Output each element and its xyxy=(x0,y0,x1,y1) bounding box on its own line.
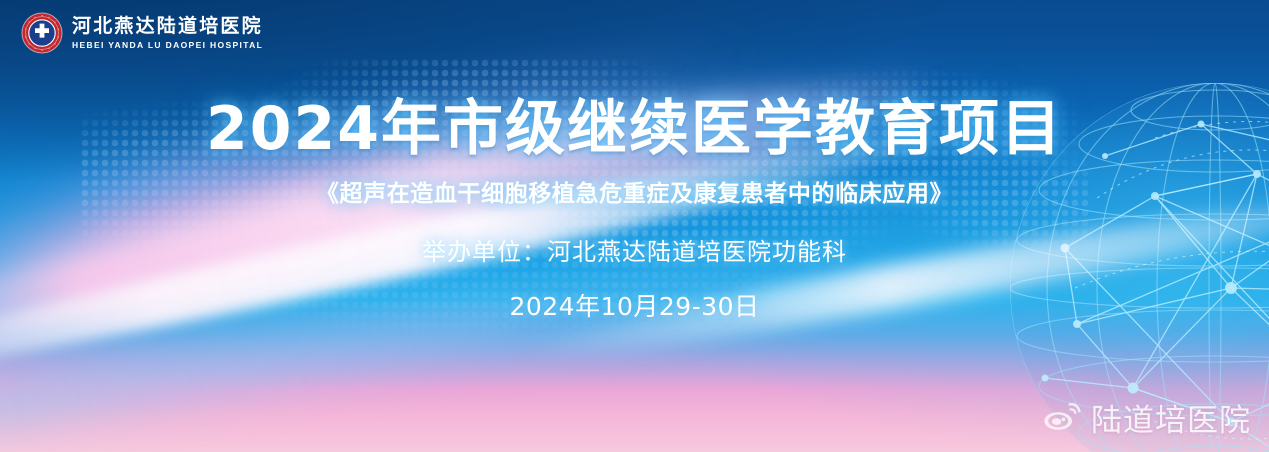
hospital-cross-emblem-icon xyxy=(21,12,63,54)
weibo-icon xyxy=(1042,401,1082,435)
hospital-name-cn: 河北燕达陆道培医院 xyxy=(72,17,263,36)
conference-banner: 河北燕达陆道培医院 HEBEI YANDA LU DAOPEI HOSPITAL… xyxy=(0,0,1269,452)
host-organization: 举办单位：河北燕达陆道培医院功能科 xyxy=(0,232,1269,267)
weibo-account-name: 陆道培医院 xyxy=(1091,395,1251,440)
hospital-name-en: HEBEI YANDA LU DAOPEI HOSPITAL xyxy=(72,41,263,50)
hospital-logo[interactable]: 河北燕达陆道培医院 HEBEI YANDA LU DAOPEI HOSPITAL xyxy=(21,12,263,54)
hospital-logo-text: 河北燕达陆道培医院 HEBEI YANDA LU DAOPEI HOSPITAL xyxy=(72,17,263,50)
weibo-watermark: 陆道培医院 xyxy=(1042,395,1251,440)
main-title: 2024年市级继续医学教育项目 xyxy=(0,98,1269,160)
course-subtitle: 《超声在造血干细胞移植急危重症及康复患者中的临床应用》 xyxy=(0,174,1269,208)
event-date: 2024年10月29-30日 xyxy=(0,287,1269,323)
